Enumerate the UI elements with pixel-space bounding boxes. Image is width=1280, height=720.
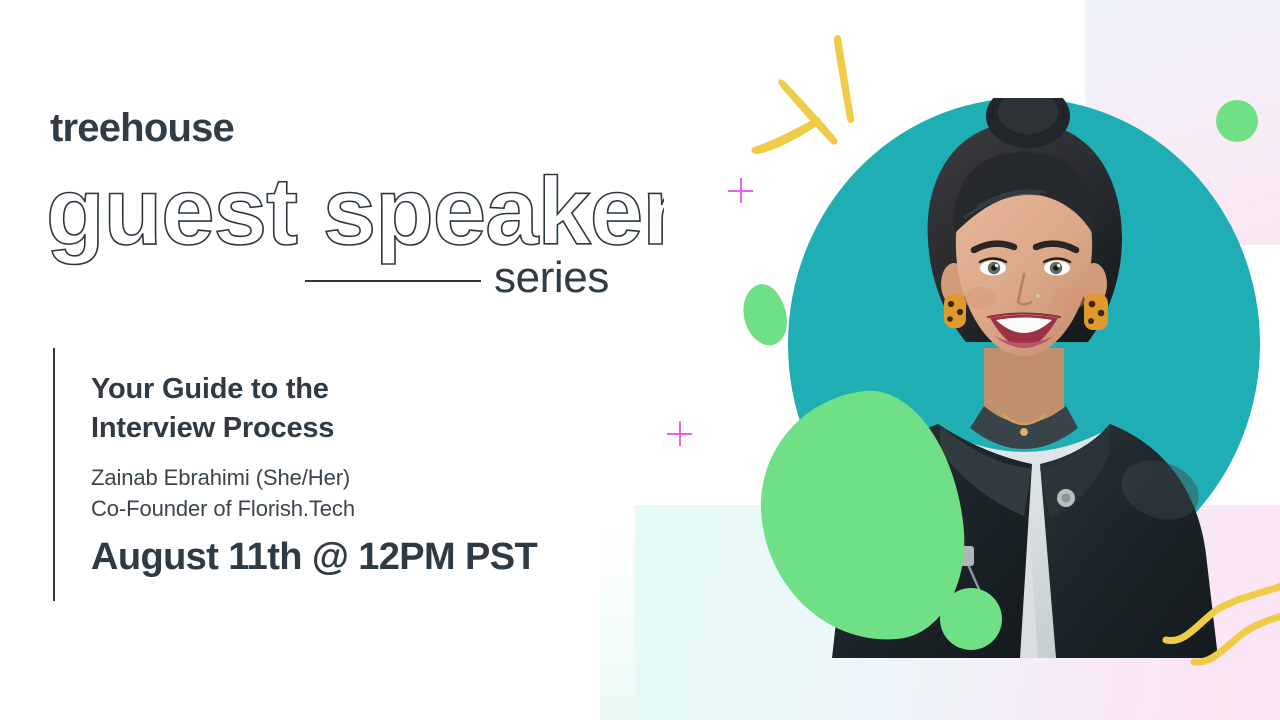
event-datetime: August 11th @ 12PM PST [91, 536, 651, 580]
speaker-role: Co-Founder of Florish.Tech [91, 493, 561, 524]
green-blob [737, 280, 793, 350]
series-label: series [494, 256, 609, 300]
talk-title-line1: Your Guide to the [91, 370, 561, 409]
detail-vertical-rule [53, 348, 55, 601]
talk-title-line2: Interview Process [91, 409, 561, 448]
speaker-info: Zainab Ebrahimi (She/Her) Co-Founder of … [91, 462, 561, 524]
headline-text: guest speaker [46, 160, 664, 265]
green-circle [940, 588, 1002, 650]
plus-icon [667, 421, 692, 446]
squiggle-icon [1160, 570, 1280, 680]
series-rule [305, 280, 481, 282]
brand-wordmark: treehouse [50, 108, 234, 148]
plus-icon [728, 178, 753, 203]
talk-title: Your Guide to the Interview Process [91, 370, 561, 448]
promo-graphic: treehouse guest speaker series Your Guid… [0, 0, 1280, 720]
speaker-name: Zainab Ebrahimi (She/Her) [91, 462, 561, 493]
green-circle [1216, 100, 1258, 142]
